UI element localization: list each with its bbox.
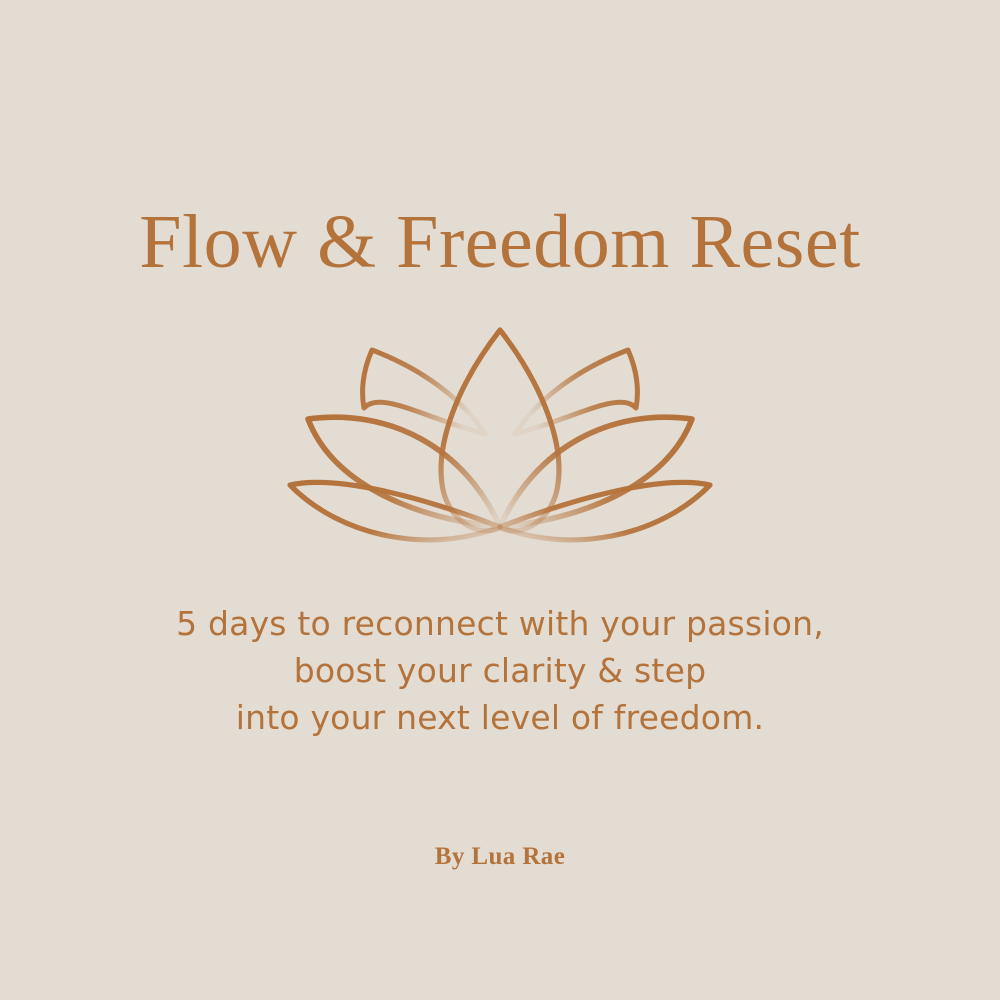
subtitle: 5 days to reconnect with your passion, b…: [0, 600, 1000, 741]
subtitle-line-3: into your next level of freedom.: [0, 694, 1000, 741]
lotus-icon: [280, 322, 720, 562]
subtitle-line-2: boost your clarity & step: [0, 647, 1000, 694]
lotus-petal-mid-left: [308, 417, 500, 527]
lotus-petal-center: [441, 330, 559, 531]
page-title: Flow & Freedom Reset: [0, 196, 1000, 288]
subtitle-line-1: 5 days to reconnect with your passion,: [0, 600, 1000, 647]
poster-canvas: Flow & Freedom Reset: [0, 0, 1000, 1000]
lotus-petal-outer-left: [290, 482, 500, 539]
lotus-logo: [280, 322, 720, 562]
author-byline: By Lua Rae: [0, 840, 1000, 874]
lotus-petal-outer-right: [500, 482, 710, 539]
lotus-petal-mid-right: [500, 417, 692, 527]
